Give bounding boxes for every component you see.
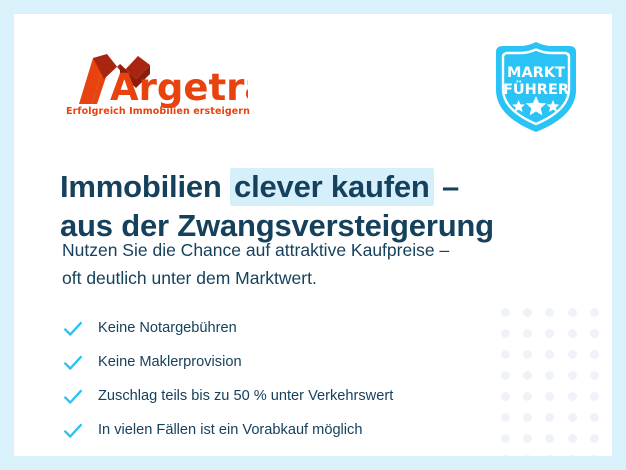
benefit-label: Keine Notargebühren bbox=[98, 320, 237, 338]
svg-text:Argetra: Argetra bbox=[110, 66, 248, 108]
dot bbox=[568, 329, 577, 338]
dot bbox=[590, 455, 599, 456]
dot bbox=[501, 455, 510, 456]
subheading: Nutzen Sie die Chance auf attraktive Kau… bbox=[62, 236, 562, 293]
headline-line1-after: – bbox=[434, 169, 459, 204]
list-item: Zuschlag teils bis zu 50 % unter Verkehr… bbox=[62, 380, 532, 414]
dot bbox=[545, 392, 554, 401]
dot bbox=[590, 350, 599, 359]
benefits-list: Keine Notargebühren Keine Maklerprovisio… bbox=[62, 312, 532, 448]
list-item: Keine Maklerprovision bbox=[62, 346, 532, 380]
badge-line2-text: FÜHRER bbox=[503, 80, 569, 98]
dot bbox=[590, 371, 599, 380]
benefit-label: In vielen Fällen ist ein Vorabkauf mögli… bbox=[98, 422, 362, 440]
dot bbox=[568, 308, 577, 317]
dot bbox=[545, 350, 554, 359]
dot bbox=[545, 413, 554, 422]
argetra-logo[interactable]: Argetra Erfolgreich Immobilien ersteiger… bbox=[58, 52, 248, 124]
list-item: Keine Notargebühren bbox=[62, 312, 532, 346]
dot bbox=[590, 308, 599, 317]
dot bbox=[568, 434, 577, 443]
dot bbox=[523, 455, 532, 456]
dot bbox=[568, 413, 577, 422]
dot bbox=[568, 371, 577, 380]
subheading-line1: Nutzen Sie die Chance auf attraktive Kau… bbox=[62, 236, 562, 264]
dot bbox=[545, 308, 554, 317]
subheading-line2: oft deutlich unter dem Marktwert. bbox=[62, 264, 562, 292]
market-leader-badge: MARKT FÜHRER bbox=[488, 38, 584, 136]
dot bbox=[590, 413, 599, 422]
dot bbox=[590, 392, 599, 401]
dot bbox=[568, 350, 577, 359]
dot bbox=[545, 434, 554, 443]
dot bbox=[590, 434, 599, 443]
list-item: In vielen Fällen ist ein Vorabkauf mögli… bbox=[62, 414, 532, 448]
headline-line1-before: Immobilien bbox=[60, 169, 230, 204]
dot bbox=[568, 455, 577, 456]
benefit-label: Zuschlag teils bis zu 50 % unter Verkehr… bbox=[98, 388, 393, 406]
advertisement-card: Argetra Erfolgreich Immobilien ersteiger… bbox=[14, 14, 612, 456]
check-icon bbox=[62, 318, 84, 340]
dot bbox=[545, 329, 554, 338]
badge-line1-text: MARKT bbox=[507, 65, 565, 81]
logo-tagline: Erfolgreich Immobilien ersteigern bbox=[66, 106, 250, 117]
dot bbox=[590, 329, 599, 338]
headline-highlight: clever kaufen bbox=[230, 168, 434, 206]
dot bbox=[568, 392, 577, 401]
check-icon bbox=[62, 420, 84, 442]
check-icon bbox=[62, 386, 84, 408]
dot bbox=[545, 371, 554, 380]
benefit-label: Keine Maklerprovision bbox=[98, 354, 242, 372]
dot bbox=[545, 455, 554, 456]
check-icon bbox=[62, 352, 84, 374]
page-title: Immobilien clever kaufen – aus der Zwang… bbox=[60, 167, 560, 246]
argetra-roof-a-icon: Argetra bbox=[58, 52, 248, 108]
